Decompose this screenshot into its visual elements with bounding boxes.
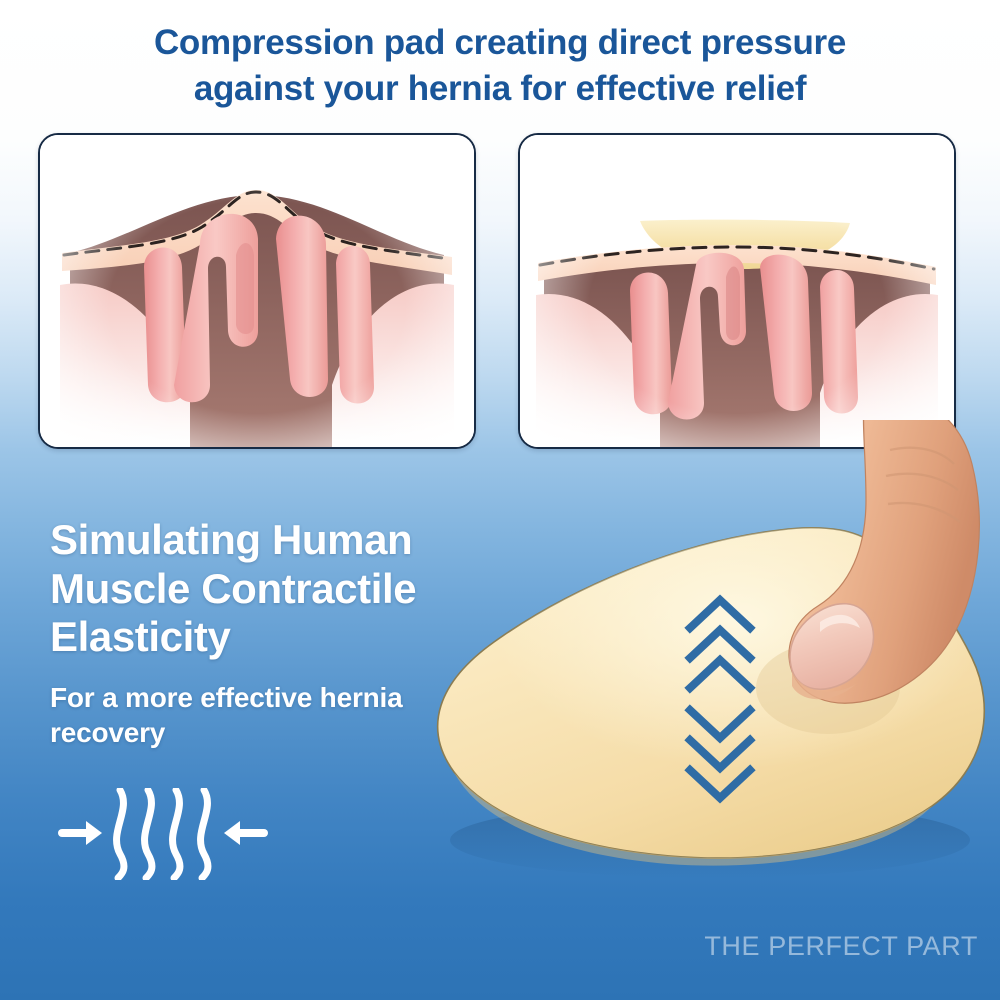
pad-and-finger-illustration [420, 420, 1000, 890]
wave-line-1 [117, 790, 124, 878]
watermark: THE PERFECT PART [704, 931, 978, 962]
feature-title-line-2: Muscle Contractile [50, 565, 480, 614]
hernia-untreated-illustration [40, 135, 474, 447]
feature-title: Simulating Human Muscle Contractile Elas… [50, 516, 480, 662]
feature-title-line-3: Elasticity [50, 613, 480, 662]
panel-hernia-with-pad [518, 133, 956, 449]
wave-line-4 [201, 790, 208, 878]
feature-subtitle: For a more effective hernia recovery [50, 680, 450, 751]
panel-hernia-untreated [38, 133, 476, 449]
compression-elasticity-icon [48, 788, 278, 880]
feature-subtitle-line-1: For a more effective hernia [50, 680, 450, 715]
wave-line-3 [173, 790, 180, 878]
product-infographic: Compression pad creating direct pressure… [0, 0, 1000, 1000]
feature-subtitle-line-2: recovery [50, 715, 450, 750]
compression-pad-photo [420, 420, 1000, 890]
arrow-right-icon [58, 821, 102, 845]
headline-line-1: Compression pad creating direct pressure [0, 20, 1000, 66]
feature-title-line-1: Simulating Human [50, 516, 480, 565]
arrow-left-icon [224, 821, 268, 845]
page-title: Compression pad creating direct pressure… [0, 20, 1000, 111]
compression-elasticity-glyphs [48, 788, 278, 880]
wave-line-2 [145, 790, 152, 878]
hernia-with-pad-illustration [520, 135, 954, 447]
headline-line-2: against your hernia for effective relief [0, 66, 1000, 112]
